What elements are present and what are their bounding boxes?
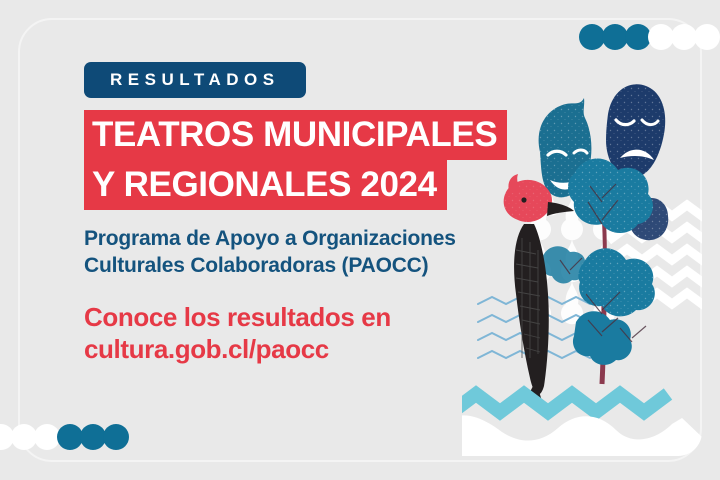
title-block: TEATROS MUNICIPALES Y REGIONALES 2024 <box>84 110 584 210</box>
title-line-2: Y REGIONALES 2024 <box>84 160 447 210</box>
tragedy-mask <box>606 84 665 178</box>
title-line-1: TEATROS MUNICIPALES <box>84 110 507 160</box>
bead-chain-top-right <box>579 24 720 50</box>
cta-url[interactable]: cultura.gob.cl/paocc <box>84 334 584 365</box>
cyan-zigzag-band <box>462 394 668 412</box>
subtitle-line-2: Culturales Colaboradoras (PAOCC) <box>84 253 584 280</box>
bead-teal-3 <box>103 424 129 450</box>
cta-line-1: Conoce los resultados en <box>84 302 584 333</box>
text-column: RESULTADOS TEATROS MUNICIPALES Y REGIONA… <box>84 62 584 365</box>
call-to-action: Conoce los resultados en cultura.gob.cl/… <box>84 302 584 365</box>
results-badge: RESULTADOS <box>84 62 306 98</box>
bead-chain-bottom-left <box>0 424 129 450</box>
bead-white-3 <box>694 24 720 50</box>
poster-canvas: RESULTADOS TEATROS MUNICIPALES Y REGIONA… <box>0 0 720 480</box>
white-hill <box>462 415 702 456</box>
subtitle-line-1: Programa de Apoyo a Organizaciones <box>84 226 584 253</box>
program-subtitle: Programa de Apoyo a Organizaciones Cultu… <box>84 226 584 280</box>
